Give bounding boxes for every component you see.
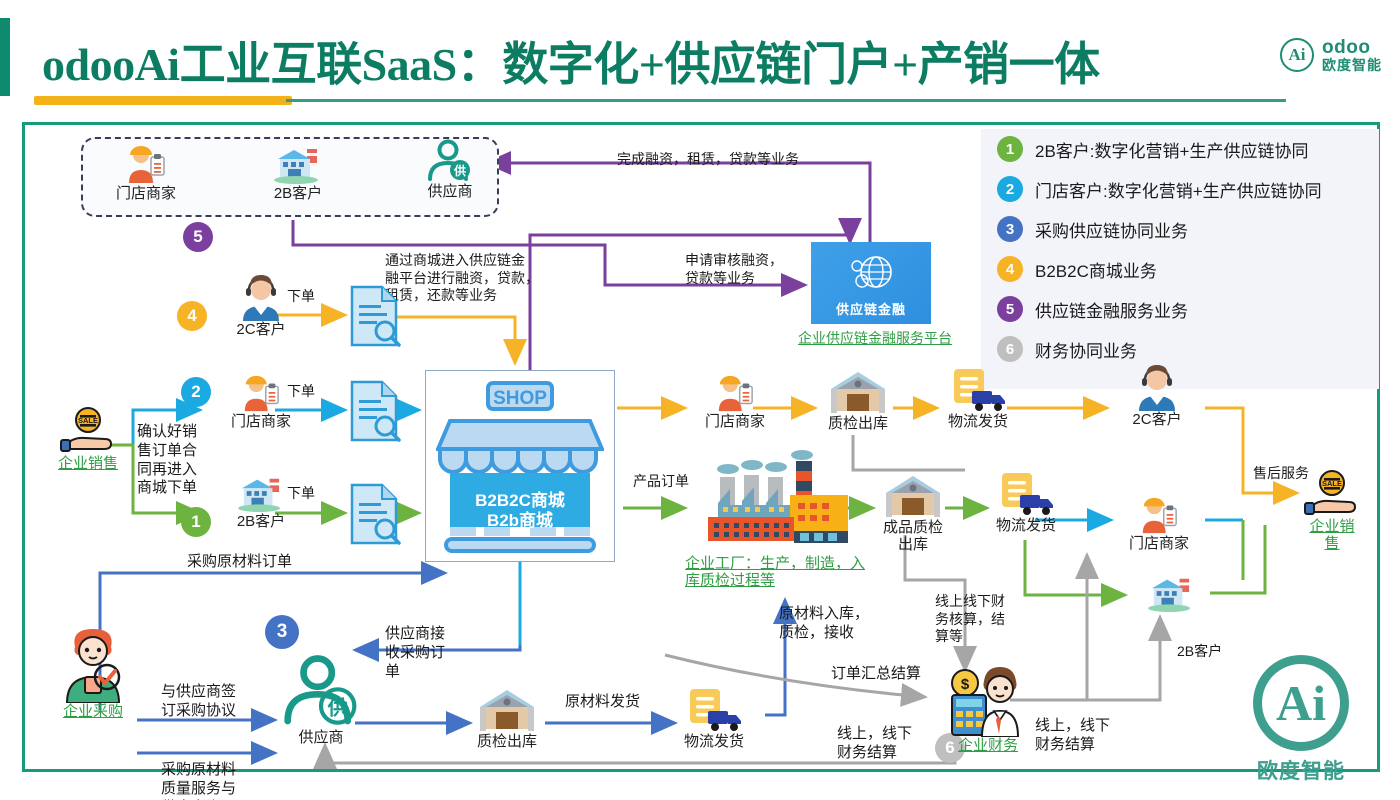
node-logistics-top[interactable]: 物流发货 bbox=[933, 367, 1023, 430]
mall-caption: B2B2C商城 B2b商城 bbox=[426, 491, 614, 532]
mall-line-2: B2b商城 bbox=[426, 511, 614, 531]
online-offline-accounting-label: 线上线下财 务核算，结 算等 bbox=[935, 593, 1005, 646]
supplier-icon: 供 bbox=[426, 139, 474, 183]
legend-label: B2B2C商城业务 bbox=[1035, 257, 1157, 282]
svg-text:SALE: SALE bbox=[1322, 479, 1342, 488]
page-title: odooAi工业互联SaaS：数字化+供应链门户+产销一体 bbox=[42, 28, 1100, 94]
legend-number: 1 bbox=[997, 136, 1023, 162]
legend-number: 4 bbox=[997, 256, 1023, 282]
node-label: 企业采购 bbox=[43, 703, 143, 720]
supply-chain-finance-tile[interactable]: 供应链金融 bbox=[811, 242, 931, 324]
title-underline-teal bbox=[286, 99, 1286, 102]
legend-label: 2B客户:数字化营销+生产供应链协同 bbox=[1035, 137, 1308, 162]
legend-label: 门店客户:数字化营销+生产供应链协同 bbox=[1035, 177, 1322, 202]
legend-number: 2 bbox=[997, 176, 1023, 202]
raw-material-inbound-label: 原材料入库， 质检，接收 bbox=[779, 605, 869, 643]
online-offline-settlement-right-label: 线上，线下 财务结算 bbox=[1035, 717, 1110, 755]
worker-icon bbox=[714, 373, 756, 413]
raw-material-shipping-label: 原材料发货 bbox=[565, 693, 640, 712]
page-header: odooAi工业互联SaaS：数字化+供应链门户+产销一体 Ai odoo 欧度… bbox=[0, 0, 1400, 118]
node-enterprise-finance[interactable]: $ 企业财务 bbox=[933, 665, 1043, 754]
node-label: 质检出库 bbox=[467, 733, 547, 750]
step-badge-1: 1 bbox=[181, 507, 211, 537]
node-label: 门店商家 bbox=[1111, 535, 1207, 552]
warehouse-icon bbox=[882, 473, 944, 519]
sale-hand-icon: SALE bbox=[57, 407, 119, 455]
factory-store-icon bbox=[236, 473, 286, 513]
truck-doc-icon bbox=[948, 367, 1008, 413]
order-summary-settlement-label: 订单汇总结算 bbox=[831, 665, 921, 684]
node-logistics-bottom[interactable]: 物流发货 bbox=[671, 687, 757, 750]
worker-icon bbox=[240, 373, 282, 413]
node-label: 门店商家 bbox=[211, 413, 311, 430]
node-label: 企业财务 bbox=[933, 737, 1043, 754]
quality-communication-label: 采购原材料 质量服务与 供应商沟通 bbox=[161, 761, 236, 800]
legend-number: 6 bbox=[997, 336, 1023, 362]
finance-person-icon: $ bbox=[946, 665, 1030, 737]
globe-icon bbox=[849, 252, 895, 296]
node-label: 成品质检 出库 bbox=[873, 519, 953, 554]
legend-label: 采购供应链协同业务 bbox=[1035, 217, 1188, 242]
node-label: 供应商 bbox=[273, 729, 369, 746]
node-label: 企业销售 bbox=[33, 455, 143, 472]
brand-logo: Ai odoo 欧度智能 bbox=[1280, 38, 1382, 73]
finance-flow-mall-label: 通过商城进入供应链金 融平台进行融资，贷款， 租赁，还款等业务 bbox=[385, 252, 539, 305]
header-accent-bar bbox=[0, 18, 10, 96]
legend-label: 财务协同业务 bbox=[1035, 337, 1137, 362]
factory-icon bbox=[690, 445, 860, 553]
svg-text:SALE: SALE bbox=[78, 416, 98, 425]
2b-customer-right-label: 2B客户 bbox=[1177, 643, 1222, 661]
supplier-receives-po-label: 供应商接 收采购订 单 bbox=[385, 625, 445, 681]
node-label: 物流发货 bbox=[983, 517, 1069, 534]
node-store-merchant-top[interactable]: 门店商家 bbox=[91, 143, 201, 202]
node-qc-warehouse-top[interactable]: 质检出库 bbox=[813, 369, 903, 432]
node-label: 企业销 售 bbox=[1293, 518, 1371, 553]
warehouse-icon bbox=[476, 687, 538, 733]
b2b2c-mall-node[interactable]: SHOP B2B2C商城 B2b商城 bbox=[425, 370, 615, 562]
legend-number: 3 bbox=[997, 216, 1023, 242]
node-finished-goods-warehouse[interactable]: 成品质检 出库 bbox=[873, 473, 953, 554]
legend-number: 5 bbox=[997, 296, 1023, 322]
mall-line-1: B2B2C商城 bbox=[426, 491, 614, 511]
node-2b-customer-right[interactable] bbox=[1123, 573, 1219, 613]
node-supplier-top[interactable]: 供 供应商 bbox=[395, 139, 505, 200]
raw-material-po-label: 采购原材料订单 bbox=[187, 553, 292, 572]
order-label-2b: 下单 bbox=[287, 485, 315, 503]
legend-item[interactable]: 4 B2B2C商城业务 bbox=[981, 249, 1379, 289]
node-label: 供应商 bbox=[395, 183, 505, 200]
headset-agent-icon bbox=[1135, 365, 1179, 411]
step-badge-4: 4 bbox=[177, 301, 207, 331]
buyer-icon bbox=[55, 625, 131, 703]
node-label: 门店商家 bbox=[685, 413, 785, 430]
sign-agreement-label: 与供应商签 订采购协议 bbox=[161, 683, 236, 721]
sale-hand-icon: SALE bbox=[1301, 470, 1363, 518]
step-badge-2: 2 bbox=[181, 377, 211, 407]
product-order-label: 产品订单 bbox=[633, 473, 689, 491]
svg-text:供: 供 bbox=[453, 163, 466, 178]
node-label: 2B客户 bbox=[243, 185, 353, 202]
node-label: 质检出库 bbox=[813, 415, 903, 432]
brand-name-cn: 欧度智能 bbox=[1322, 58, 1382, 73]
order-label-2c: 下单 bbox=[287, 288, 315, 306]
finance-flow-out-label: 完成融资，租赁，贷款等业务 bbox=[617, 151, 799, 169]
confirm-sales-order-label: 确认好销 售订单合 同再进入 商城下单 bbox=[137, 423, 197, 498]
legend-label: 供应链金融服务业务 bbox=[1035, 297, 1188, 322]
factory-store-icon bbox=[1146, 573, 1196, 613]
node-store-merchant-right[interactable]: 门店商家 bbox=[1111, 495, 1207, 552]
node-2b-customer-top[interactable]: 2B客户 bbox=[243, 143, 353, 202]
truck-doc-icon bbox=[996, 471, 1056, 517]
supplier-icon: 供 bbox=[281, 653, 361, 729]
worker-icon bbox=[1138, 495, 1180, 535]
node-label: 2B客户 bbox=[211, 513, 311, 530]
order-document-icon[interactable] bbox=[347, 483, 401, 545]
order-label-store: 下单 bbox=[287, 383, 315, 401]
node-enterprise-procurement[interactable]: 企业采购 bbox=[43, 625, 143, 720]
watermark-ai-icon: Ai bbox=[1253, 655, 1349, 751]
online-offline-settlement-label: 线上，线下 财务结算 bbox=[837, 725, 912, 763]
step-badge-5: 5 bbox=[183, 222, 213, 252]
watermark-logo: Ai 欧度智能 bbox=[1253, 655, 1349, 785]
legend-panel: 1 2B客户:数字化营销+生产供应链协同 2 门店客户:数字化营销+生产供应链协… bbox=[981, 129, 1379, 389]
diagram-canvas: 1 2B客户:数字化营销+生产供应链协同 2 门店客户:数字化营销+生产供应链协… bbox=[22, 122, 1380, 772]
legend-item[interactable]: 2 门店客户:数字化营销+生产供应链协同 bbox=[981, 169, 1379, 209]
svg-text:$: $ bbox=[961, 676, 970, 693]
order-document-icon[interactable] bbox=[347, 285, 401, 347]
node-enterprise-sales-left[interactable]: SALE 企业销售 bbox=[33, 407, 143, 472]
node-supplier-bottom[interactable]: 供 供应商 bbox=[273, 653, 369, 746]
node-qc-warehouse-bottom[interactable]: 质检出库 bbox=[467, 687, 547, 750]
factory-caption: 企业工厂：生产，制造，入 库质检过程等 bbox=[685, 555, 865, 590]
finance-tile-label: 供应链金融 bbox=[836, 299, 906, 318]
node-label: 物流发货 bbox=[933, 413, 1023, 430]
node-2c-customer-order[interactable]: 2C客户 bbox=[211, 275, 311, 338]
order-document-icon[interactable] bbox=[347, 380, 401, 442]
node-2c-customer-chain[interactable]: 2C客户 bbox=[1107, 365, 1207, 428]
title-underline-yellow bbox=[34, 96, 292, 105]
node-label: 2C客户 bbox=[211, 321, 311, 338]
legend-item[interactable]: 3 采购供应链协同业务 bbox=[981, 209, 1379, 249]
node-label: 物流发货 bbox=[671, 733, 757, 750]
node-store-merchant-order[interactable]: 门店商家 bbox=[211, 373, 311, 430]
finance-flow-in-label: 申请审核融资， 贷款等业务 bbox=[685, 252, 783, 287]
node-store-merchant-chain[interactable]: 门店商家 bbox=[685, 373, 785, 430]
svg-text:SHOP: SHOP bbox=[493, 388, 547, 409]
factory-store-icon bbox=[272, 143, 324, 185]
node-label: 2C客户 bbox=[1107, 411, 1207, 428]
step-badge-3: 3 bbox=[265, 615, 299, 649]
watermark-text: 欧度智能 bbox=[1253, 755, 1349, 785]
worker-icon bbox=[124, 143, 168, 185]
node-enterprise-factory[interactable]: 企业工厂：生产，制造，入 库质检过程等 bbox=[685, 445, 865, 590]
node-enterprise-sales-right[interactable]: SALE 企业销 售 bbox=[1293, 470, 1371, 553]
node-label: 门店商家 bbox=[91, 185, 201, 202]
svg-text:供: 供 bbox=[327, 695, 348, 719]
brand-name: odoo bbox=[1322, 38, 1382, 58]
legend-item[interactable]: 6 财务协同业务 bbox=[981, 329, 1379, 369]
truck-doc-icon bbox=[684, 687, 744, 733]
legend-item[interactable]: 5 供应链金融服务业务 bbox=[981, 289, 1379, 329]
finance-platform-caption: 企业供应链金融服务平台 bbox=[785, 328, 965, 348]
legend-item[interactable]: 1 2B客户:数字化营销+生产供应链协同 bbox=[981, 129, 1379, 169]
brand-ai-icon: Ai bbox=[1280, 38, 1314, 72]
headset-agent-icon bbox=[239, 275, 283, 321]
node-logistics-factory[interactable]: 物流发货 bbox=[983, 471, 1069, 534]
warehouse-icon bbox=[827, 369, 889, 415]
